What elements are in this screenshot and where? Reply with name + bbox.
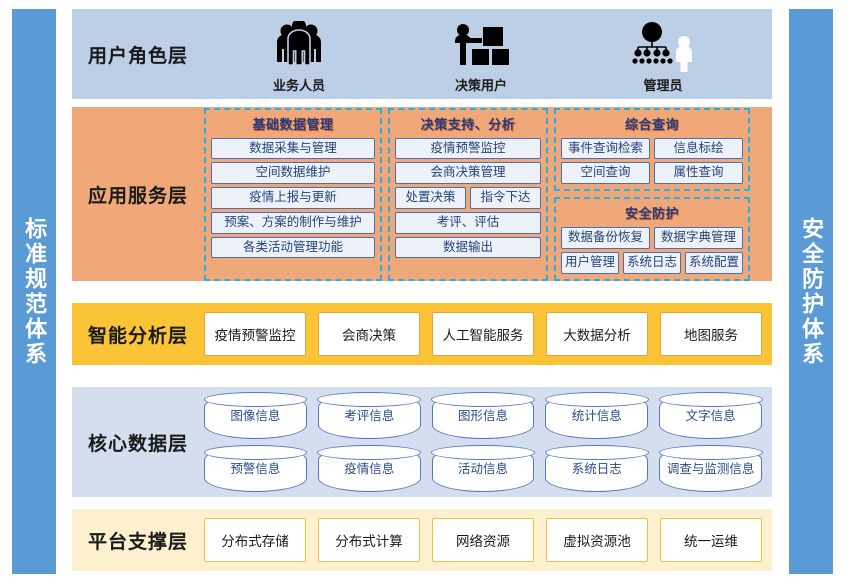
fn-attribute-query[interactable]: 属性查询 <box>654 162 743 184</box>
role-strip: 业务人员 决策用户 <box>204 15 772 94</box>
query-row-2: 空间查询 属性查询 <box>561 162 743 184</box>
intel-map-service[interactable]: 地图服务 <box>660 312 762 356</box>
datastore-text-info[interactable]: 文字信息 <box>659 393 762 439</box>
security-system-label: 安全防护体系 <box>797 217 825 367</box>
org-hierarchy-icon <box>628 15 698 73</box>
application-groups: 基础数据管理 数据采集与管理 空间数据维护 疫情上报与更新 预案、方案的制作与维… <box>204 102 772 287</box>
datastore-epidemic-info-label: 疫情信息 <box>344 462 394 476</box>
platform-support-items: 分布式存储 分布式计算 网络资源 虚拟资源池 统一运维 <box>204 518 772 562</box>
datastore-warning-info-label: 预警信息 <box>230 462 280 476</box>
datastore-appraisal-info-label: 考评信息 <box>344 409 394 423</box>
group-security-protection: 安全防护 数据备份恢复 数据字典管理 用户管理 系统日志 系统配置 <box>554 197 750 281</box>
fn-data-backup-recovery[interactable]: 数据备份恢复 <box>561 227 650 249</box>
standards-system-bar: 标准规范体系 <box>12 9 56 574</box>
datastore-text-info-label: 文字信息 <box>686 409 736 423</box>
fn-system-log[interactable]: 系统日志 <box>623 252 681 274</box>
layer-application-service-title: 应用服务层 <box>72 107 204 281</box>
fn-user-management[interactable]: 用户管理 <box>561 252 619 274</box>
fn-information-plotting[interactable]: 信息标绘 <box>654 138 743 160</box>
core-data-stores: 图像信息 考评信息 图形信息 统计信息 文字信息 预警信息 疫情信息 活动信息 … <box>204 393 772 492</box>
layer-intelligent-analysis-title: 智能分析层 <box>72 321 204 348</box>
datastore-statistics-info-label: 统计信息 <box>572 409 622 423</box>
fn-spatial-query[interactable]: 空间查询 <box>561 162 650 184</box>
group-comprehensive-query: 综合查询 事件查询检索 信息标绘 空间查询 属性查询 <box>554 108 750 192</box>
fn-disposal-decision[interactable]: 处置决策 <box>395 187 466 209</box>
datastore-activity-info[interactable]: 活动信息 <box>432 446 535 492</box>
group-comprehensive-query-title: 综合查询 <box>561 113 743 135</box>
layer-intelligent-analysis: 智能分析层 疫情预警监控 会商决策 人工智能服务 大数据分析 地图服务 <box>72 303 772 365</box>
fn-activity-management[interactable]: 各类活动管理功能 <box>211 237 375 259</box>
architecture-diagram: 标准规范体系 安全防护体系 用户角色层 <box>0 0 851 583</box>
platform-virtual-resource-pool[interactable]: 虚拟资源池 <box>546 518 648 562</box>
intelligent-analysis-items: 疫情预警监控 会商决策 人工智能服务 大数据分析 地图服务 <box>204 312 772 356</box>
datastore-epidemic-info[interactable]: 疫情信息 <box>318 446 421 492</box>
layer-platform-support: 平台支撑层 分布式存储 分布式计算 网络资源 虚拟资源池 统一运维 <box>72 509 772 571</box>
fn-command-dispatch[interactable]: 指令下达 <box>470 187 541 209</box>
group-basic-data-management-title: 基础数据管理 <box>211 113 375 135</box>
layer-user-role-title: 用户角色层 <box>72 41 204 68</box>
application-right-stack: 综合查询 事件查询检索 信息标绘 空间查询 属性查询 安全防护 <box>554 108 750 281</box>
fn-appraisal-evaluation[interactable]: 考评、评估 <box>395 212 541 234</box>
standards-system-label: 标准规范体系 <box>20 217 48 367</box>
fn-pair-row: 处置决策 指令下达 <box>395 187 541 209</box>
person-blocks-icon <box>450 15 512 73</box>
group-decision-support-analysis: 决策支持、分析 疫情预警监控 会商决策管理 处置决策 指令下达 考评、评估 数据… <box>388 108 548 281</box>
layer-core-data-title: 核心数据层 <box>72 429 204 456</box>
layer-core-data: 核心数据层 图像信息 考评信息 图形信息 统计信息 文字信息 预警信息 疫情信息… <box>72 387 772 497</box>
role-business-staff[interactable]: 业务人员 <box>234 15 364 94</box>
layer-user-role: 用户角色层 业务人员 <box>72 9 772 99</box>
fn-spatial-data-maintenance[interactable]: 空间数据维护 <box>211 162 375 184</box>
group-basic-data-management: 基础数据管理 数据采集与管理 空间数据维护 疫情上报与更新 预案、方案的制作与维… <box>204 108 382 281</box>
platform-unified-ops[interactable]: 统一运维 <box>660 518 762 562</box>
datastore-graphic-info[interactable]: 图形信息 <box>432 393 535 439</box>
role-decision-user-label: 决策用户 <box>455 75 507 94</box>
layer-application-service: 应用服务层 基础数据管理 数据采集与管理 空间数据维护 疫情上报与更新 预案、方… <box>72 107 772 281</box>
users-group-icon <box>269 15 329 73</box>
fn-data-output[interactable]: 数据输出 <box>395 237 541 259</box>
platform-distributed-storage[interactable]: 分布式存储 <box>204 518 306 562</box>
intel-big-data-analysis[interactable]: 大数据分析 <box>546 312 648 356</box>
intel-ai-service[interactable]: 人工智能服务 <box>432 312 534 356</box>
intel-epidemic-warning-monitor[interactable]: 疫情预警监控 <box>204 312 306 356</box>
datastore-activity-info-label: 活动信息 <box>458 462 508 476</box>
fn-plan-creation-maintenance[interactable]: 预案、方案的制作与维护 <box>211 212 375 234</box>
role-business-staff-label: 业务人员 <box>273 75 325 94</box>
role-administrator[interactable]: 管理员 <box>598 15 728 94</box>
datastore-system-log-label: 系统日志 <box>572 462 622 476</box>
datastore-graphic-info-label: 图形信息 <box>458 409 508 423</box>
fn-event-query-search[interactable]: 事件查询检索 <box>561 138 650 160</box>
security-row-2: 用户管理 系统日志 系统配置 <box>561 252 743 274</box>
fn-data-collection[interactable]: 数据采集与管理 <box>211 138 375 160</box>
security-system-bar: 安全防护体系 <box>789 9 833 574</box>
group-security-protection-title: 安全防护 <box>561 202 743 224</box>
fn-epidemic-warning-monitor[interactable]: 疫情预警监控 <box>395 138 541 160</box>
role-administrator-label: 管理员 <box>643 75 682 94</box>
fn-epidemic-report-update[interactable]: 疫情上报与更新 <box>211 187 375 209</box>
group-decision-support-analysis-title: 决策支持、分析 <box>395 113 541 135</box>
datastore-statistics-info[interactable]: 统计信息 <box>545 393 648 439</box>
fn-system-config[interactable]: 系统配置 <box>685 252 743 274</box>
platform-distributed-computing[interactable]: 分布式计算 <box>318 518 420 562</box>
query-row-1: 事件查询检索 信息标绘 <box>561 138 743 160</box>
datastore-warning-info[interactable]: 预警信息 <box>204 446 307 492</box>
datastore-image-info[interactable]: 图像信息 <box>204 393 307 439</box>
datastore-appraisal-info[interactable]: 考评信息 <box>318 393 421 439</box>
datastore-survey-monitoring-info-label: 调查与监测信息 <box>667 462 755 476</box>
role-decision-user[interactable]: 决策用户 <box>416 15 546 94</box>
platform-network-resources[interactable]: 网络资源 <box>432 518 534 562</box>
datastore-survey-monitoring-info[interactable]: 调查与监测信息 <box>659 446 762 492</box>
datastore-system-log[interactable]: 系统日志 <box>545 446 648 492</box>
layer-platform-support-title: 平台支撑层 <box>72 527 204 554</box>
datastore-image-info-label: 图像信息 <box>230 409 280 423</box>
fn-data-dictionary-management[interactable]: 数据字典管理 <box>654 227 743 249</box>
security-row-1: 数据备份恢复 数据字典管理 <box>561 227 743 249</box>
fn-consultation-decision-management[interactable]: 会商决策管理 <box>395 162 541 184</box>
intel-consultation-decision[interactable]: 会商决策 <box>318 312 420 356</box>
